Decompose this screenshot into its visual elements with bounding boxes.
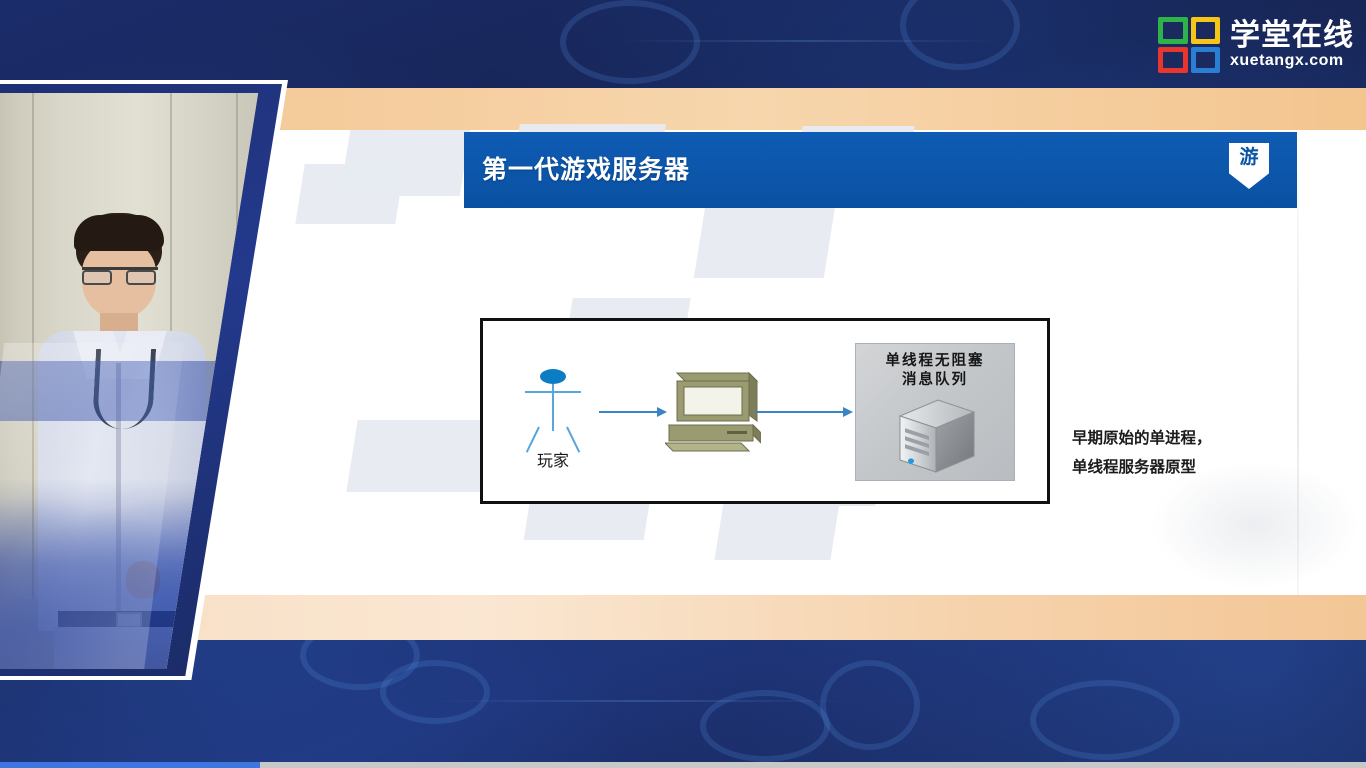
glasses-lens-left [82,270,112,285]
presenter-video-panel[interactable] [0,80,300,760]
decorative-shape [295,164,405,224]
stick-figure-head [540,369,566,384]
arrow-head [843,407,853,417]
decorative-shape [346,420,493,492]
person-hair-front [74,215,164,251]
client-to-server-arrow [755,405,853,419]
arrow-shaft [599,411,657,413]
xuetangx-logo[interactable]: 学堂在线 xuetangx.com [1158,14,1354,76]
annotation-line1: 早期原始的单进程， [1072,424,1292,453]
slide-title: 第一代游戏服务器 [482,150,690,186]
person-glasses [82,267,158,282]
desktop-computer-icon [665,369,761,459]
logo-text-cn: 学堂在线 [1230,20,1354,52]
decorative-shape [694,200,836,278]
server-tower-icon [892,398,980,476]
logo-square-red [1158,47,1188,74]
player-to-client-arrow [599,405,667,419]
architecture-diagram: 玩家 单线程无阻塞 消息队列 [480,318,1050,504]
chain-decoration [380,660,490,724]
shield-badge-icon: 游 [1229,143,1269,189]
server-card: 单线程无阻塞 消息队列 [855,343,1015,481]
logo-wordmark: 学堂在线 xuetangx.com [1230,20,1354,70]
annotation-line2: 单线程服务器原型 [1072,453,1292,482]
four-squares-logo [1158,17,1220,73]
slide-title-bar: 第一代游戏服务器 游 [464,132,1297,208]
shield-badge-glyph: 游 [1229,145,1269,171]
logo-text-en: xuetangx.com [1230,52,1354,70]
player-label: 玩家 [516,447,590,471]
slide-annotation: 早期原始的单进程， 单线程服务器原型 [1072,424,1292,482]
light-streak [620,40,1000,42]
logo-square-blue [1191,47,1221,74]
server-caption-line2: 消息队列 [856,371,1014,390]
arrow-shaft [755,411,843,413]
chain-decoration [560,0,700,84]
logo-square-green [1158,17,1188,44]
stick-figure-icon: 玩家 [521,369,585,469]
stick-figure-spine [552,384,554,431]
chain-decoration [900,0,1020,70]
chain-decoration [1030,680,1180,760]
light-streak [430,700,850,702]
video-progress-bar[interactable] [0,762,1366,768]
glasses-lens-right [126,270,156,285]
logo-square-yellow [1191,17,1221,44]
video-progress-played[interactable] [0,762,260,768]
server-caption-line1: 单线程无阻塞 [856,352,1014,371]
chain-decoration [820,660,920,750]
